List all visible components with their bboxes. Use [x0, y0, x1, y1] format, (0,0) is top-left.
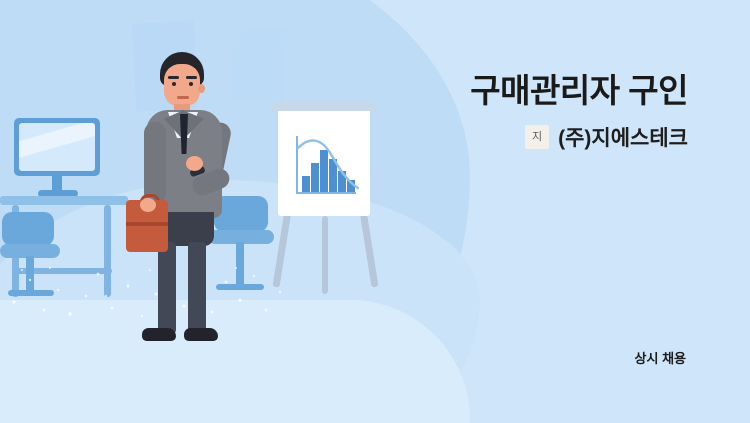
man-eye-right	[189, 82, 193, 86]
office-chair-left-back	[2, 212, 54, 246]
man-eyebrow-right	[186, 76, 197, 79]
company-logo-badge: 지	[525, 125, 549, 149]
desk-top	[0, 196, 128, 205]
monitor-icon	[14, 118, 100, 176]
monitor-screen	[19, 123, 95, 171]
businessman-figure	[118, 52, 268, 372]
company-row: 지 (주)지에스테크	[268, 122, 688, 152]
page-title: 구매관리자 구인	[268, 72, 688, 110]
hiring-status-label: 상시 채용	[635, 348, 686, 367]
company-name: (주)지에스테크	[558, 122, 688, 152]
flipchart-leg-center	[322, 216, 328, 294]
man-face	[164, 64, 200, 106]
poster-text-block: 구매관리자 구인 지 (주)지에스테크	[268, 72, 688, 152]
man-right-hand	[186, 156, 203, 171]
man-leg-left	[158, 242, 176, 334]
man-shoe-left	[142, 328, 176, 341]
man-ear	[198, 84, 205, 93]
man-mouth	[177, 96, 189, 99]
briefcase-latch-strip	[126, 222, 168, 226]
man-shoe-right	[184, 328, 218, 341]
man-eye-left	[172, 82, 176, 86]
man-left-arm	[144, 122, 166, 204]
job-posting-poster: 구매관리자 구인 지 (주)지에스테크 상시 채용	[0, 0, 750, 423]
man-eyebrow-left	[168, 76, 179, 79]
man-left-hand	[140, 198, 156, 212]
man-leg-right	[188, 242, 206, 334]
